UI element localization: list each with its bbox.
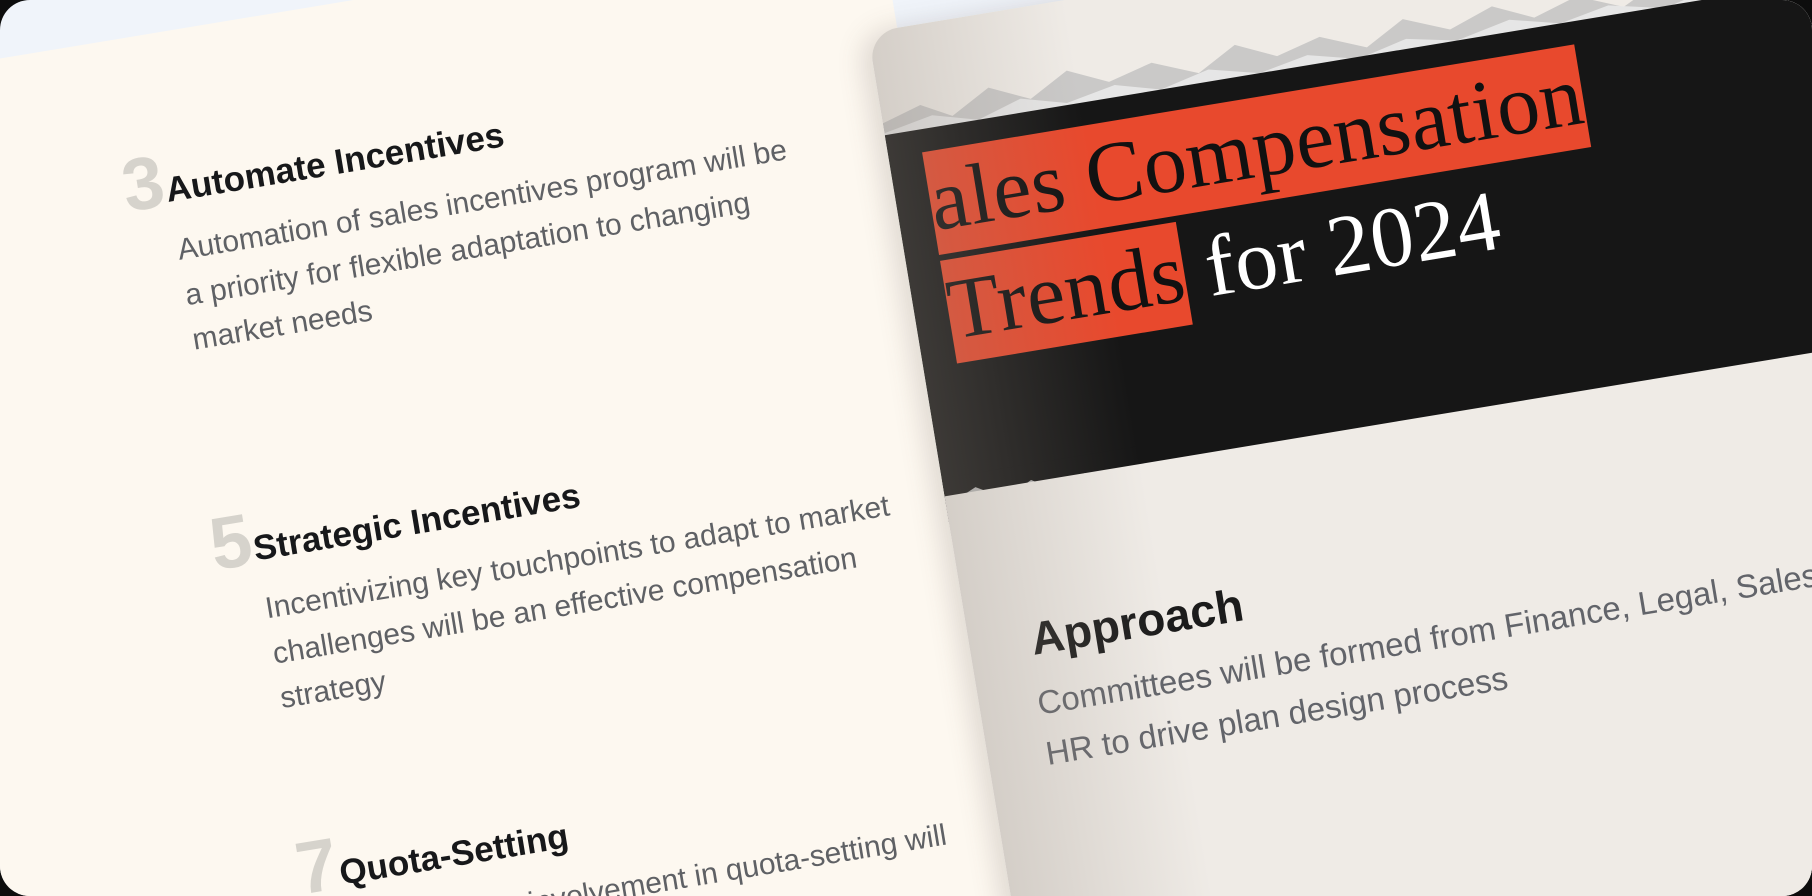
app-frame: es n incentivesole, tenureity nt n reten… [0,0,1812,896]
list-item-5-number: 5 [204,503,255,582]
right-slide-card[interactable]: ales CompensationTrends for 2024 Approac… [868,0,1812,896]
list-item-3-number: 3 [117,144,168,223]
list-item-7-number: 7 [291,827,342,896]
clipped-body-mid: n retention/imize the attrition [0,643,21,798]
